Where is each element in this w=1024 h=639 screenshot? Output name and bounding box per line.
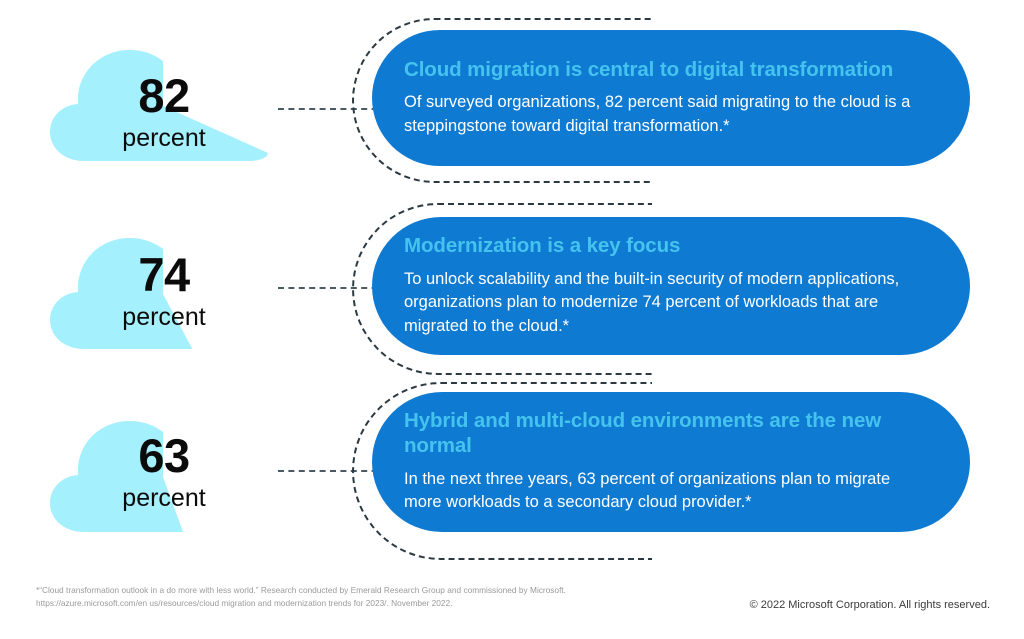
infographic-root: 82 percent Cloud migration is central to… — [0, 0, 1024, 639]
connector-line — [278, 108, 388, 110]
panel-body: Of surveyed organizations, 82 percent sa… — [404, 91, 930, 138]
info-panel-2[interactable]: Hybrid and multi-cloud environments are … — [372, 392, 970, 532]
stat-row: 82 percent Cloud migration is central to… — [0, 18, 1024, 183]
stat-row: 63 percent Hybrid and multi-cloud enviro… — [0, 382, 1024, 560]
panel-body: To unlock scalability and the built-in s… — [404, 268, 930, 338]
cloud-stat-0: 82 percent — [36, 18, 298, 183]
cloud-stat-2: 63 percent — [36, 382, 298, 560]
panel-body: In the next three years, 63 percent of o… — [404, 468, 930, 515]
cloud-stat-1: 74 percent — [36, 203, 298, 375]
cloud-pie-icon — [36, 203, 298, 375]
info-panel-0[interactable]: Cloud migration is central to digital tr… — [372, 30, 970, 166]
cloud-pie-icon — [36, 382, 298, 560]
info-panel-1[interactable]: Modernization is a key focus To unlock s… — [372, 217, 970, 355]
stat-row: 74 percent Modernization is a key focus … — [0, 203, 1024, 375]
panel-title: Modernization is a key focus — [404, 234, 930, 259]
panel-title: Hybrid and multi-cloud environments are … — [404, 409, 930, 458]
copyright-text: © 2022 Microsoft Corporation. All rights… — [750, 599, 990, 611]
dashed-connector-icon — [278, 108, 388, 110]
footnote-text: *“Cloud transformation outlook in a do m… — [36, 584, 566, 610]
cloud-pie-icon — [36, 18, 298, 183]
footer: *“Cloud transformation outlook in a do m… — [0, 584, 1024, 630]
panel-title: Cloud migration is central to digital tr… — [404, 58, 930, 83]
